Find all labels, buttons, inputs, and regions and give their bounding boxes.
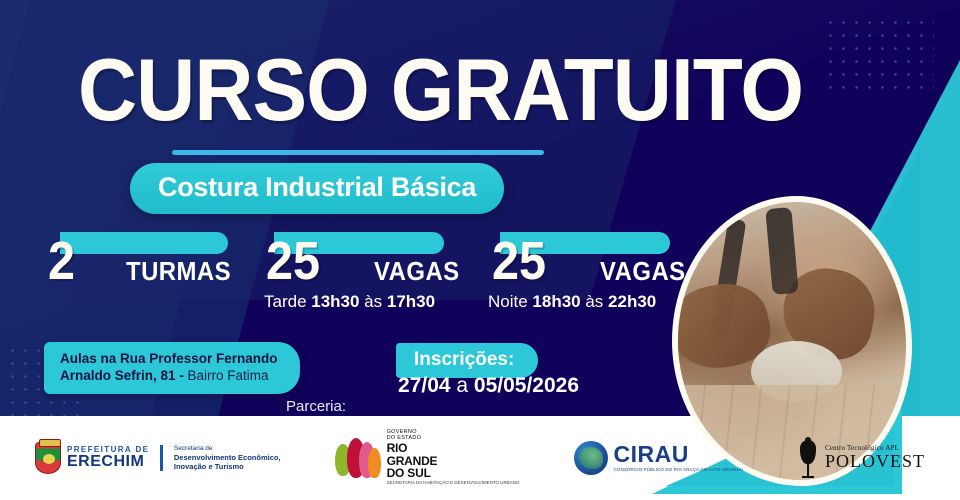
stat-turmas-number: 2 xyxy=(48,234,75,288)
rs-name-line-3: DO SUL xyxy=(387,467,520,480)
schedule-tarde-mid: às xyxy=(359,292,386,311)
stat-vagas-noite-label: VAGAS xyxy=(600,258,686,284)
partner-logo-row: PREFEITURA DE ERECHIM Secretaria de Dese… xyxy=(0,416,960,500)
schedule-tarde-prefix: Tarde xyxy=(264,292,311,311)
cirau-wordmark: CIRAU CONSÓRCIO PÚBLICO DO RIO ARAÇÁ DO … xyxy=(614,443,743,473)
erechim-coat-of-arms-icon xyxy=(35,442,61,474)
schedule-noite-from: 18h30 xyxy=(532,292,580,311)
erechim-wordmark: PREFEITURA DE ERECHIM xyxy=(67,446,149,470)
logo-divider xyxy=(160,445,163,471)
erechim-secretariat-text: Secretaria de Desenvolvimento Econômico,… xyxy=(174,445,281,471)
inscriptions-label: Inscrições: xyxy=(414,349,514,370)
address-pill: Aulas na Rua Professor Fernando Arnaldo … xyxy=(44,342,300,394)
inscriptions-pill: Inscrições: xyxy=(396,343,538,378)
schedule-noite-mid: às xyxy=(581,292,608,311)
erechim-line-main: ERECHIM xyxy=(67,454,149,470)
promotional-banner: CURSO GRATUITO Costura Industrial Básica… xyxy=(0,0,960,500)
polovest-name: POLOVEST xyxy=(825,452,925,471)
dot-grid-top-right xyxy=(824,16,934,94)
logo-governo-rs: GOVERNO DO ESTADO RIO GRANDE DO SUL SECR… xyxy=(335,430,520,485)
secretariat-line-2: Desenvolvimento Econômico, xyxy=(174,453,281,462)
schedule-tarde-from: 13h30 xyxy=(311,292,359,311)
rs-sub-line: SECRETARIA DA HABITAÇÃO E DESENVOLVIMENT… xyxy=(387,481,520,486)
inscriptions-date-from: 27/04 xyxy=(398,374,451,397)
address-line-1: Aulas na Rua Professor Fernando xyxy=(60,350,278,367)
rs-silhouettes-icon xyxy=(335,438,381,478)
rs-name-line-1: RIO xyxy=(387,442,520,455)
stat-vagas-noite-number: 25 xyxy=(492,234,546,288)
inscriptions-date-range: 27/04 a 05/05/2026 xyxy=(398,374,579,398)
stat-turmas-label: TURMAS xyxy=(126,258,231,284)
course-name-label: Costura Industrial Básica xyxy=(158,172,476,202)
page-title: CURSO GRATUITO xyxy=(78,48,803,132)
logo-cirau: CIRAU CONSÓRCIO PÚBLICO DO RIO ARAÇÁ DO … xyxy=(574,441,743,475)
inscriptions-date-to: 05/05/2026 xyxy=(474,374,579,397)
address-neighborhood: Bairro Fatima xyxy=(184,368,269,383)
inscriptions-date-sep: a xyxy=(451,374,474,397)
dress-form-icon xyxy=(797,438,819,478)
schedule-noite-to: 22h30 xyxy=(608,292,656,311)
logo-polovest: Centro Tecnológico APL POLOVEST xyxy=(797,438,925,478)
schedule-tarde-to: 17h30 xyxy=(387,292,435,311)
stat-vagas-noite-schedule: Noite 18h30 às 22h30 xyxy=(488,292,656,312)
stat-turmas-bar xyxy=(60,232,228,254)
course-name-pill: Costura Industrial Básica xyxy=(130,163,504,214)
rs-wordmark: GOVERNO DO ESTADO RIO GRANDE DO SUL SECR… xyxy=(387,430,520,485)
address-line-2: Arnaldo Sefrin, 81 - Bairro Fatima xyxy=(60,367,278,384)
stat-vagas-tarde-label: VAGAS xyxy=(374,258,460,284)
title-underline xyxy=(172,150,544,155)
secretariat-line-1: Secretaria de xyxy=(174,445,281,453)
logo-prefeitura-erechim: PREFEITURA DE ERECHIM Secretaria de Dese… xyxy=(35,442,281,474)
cirau-globe-icon xyxy=(574,441,608,475)
partnership-label: Parceria: xyxy=(286,398,346,415)
schedule-noite-prefix: Noite xyxy=(488,292,532,311)
cirau-sub-line: CONSÓRCIO PÚBLICO DO RIO ARAÇÁ DO ALTO U… xyxy=(614,468,743,473)
secretariat-line-3: Inovação e Turismo xyxy=(174,462,281,471)
stat-vagas-tarde-schedule: Tarde 13h30 às 17h30 xyxy=(264,292,435,312)
stat-vagas-tarde-number: 25 xyxy=(266,234,320,288)
polovest-wordmark: Centro Tecnológico APL POLOVEST xyxy=(825,445,925,471)
cirau-name: CIRAU xyxy=(614,443,743,466)
address-street-number: Arnaldo Sefrin, 81 - xyxy=(60,368,184,383)
